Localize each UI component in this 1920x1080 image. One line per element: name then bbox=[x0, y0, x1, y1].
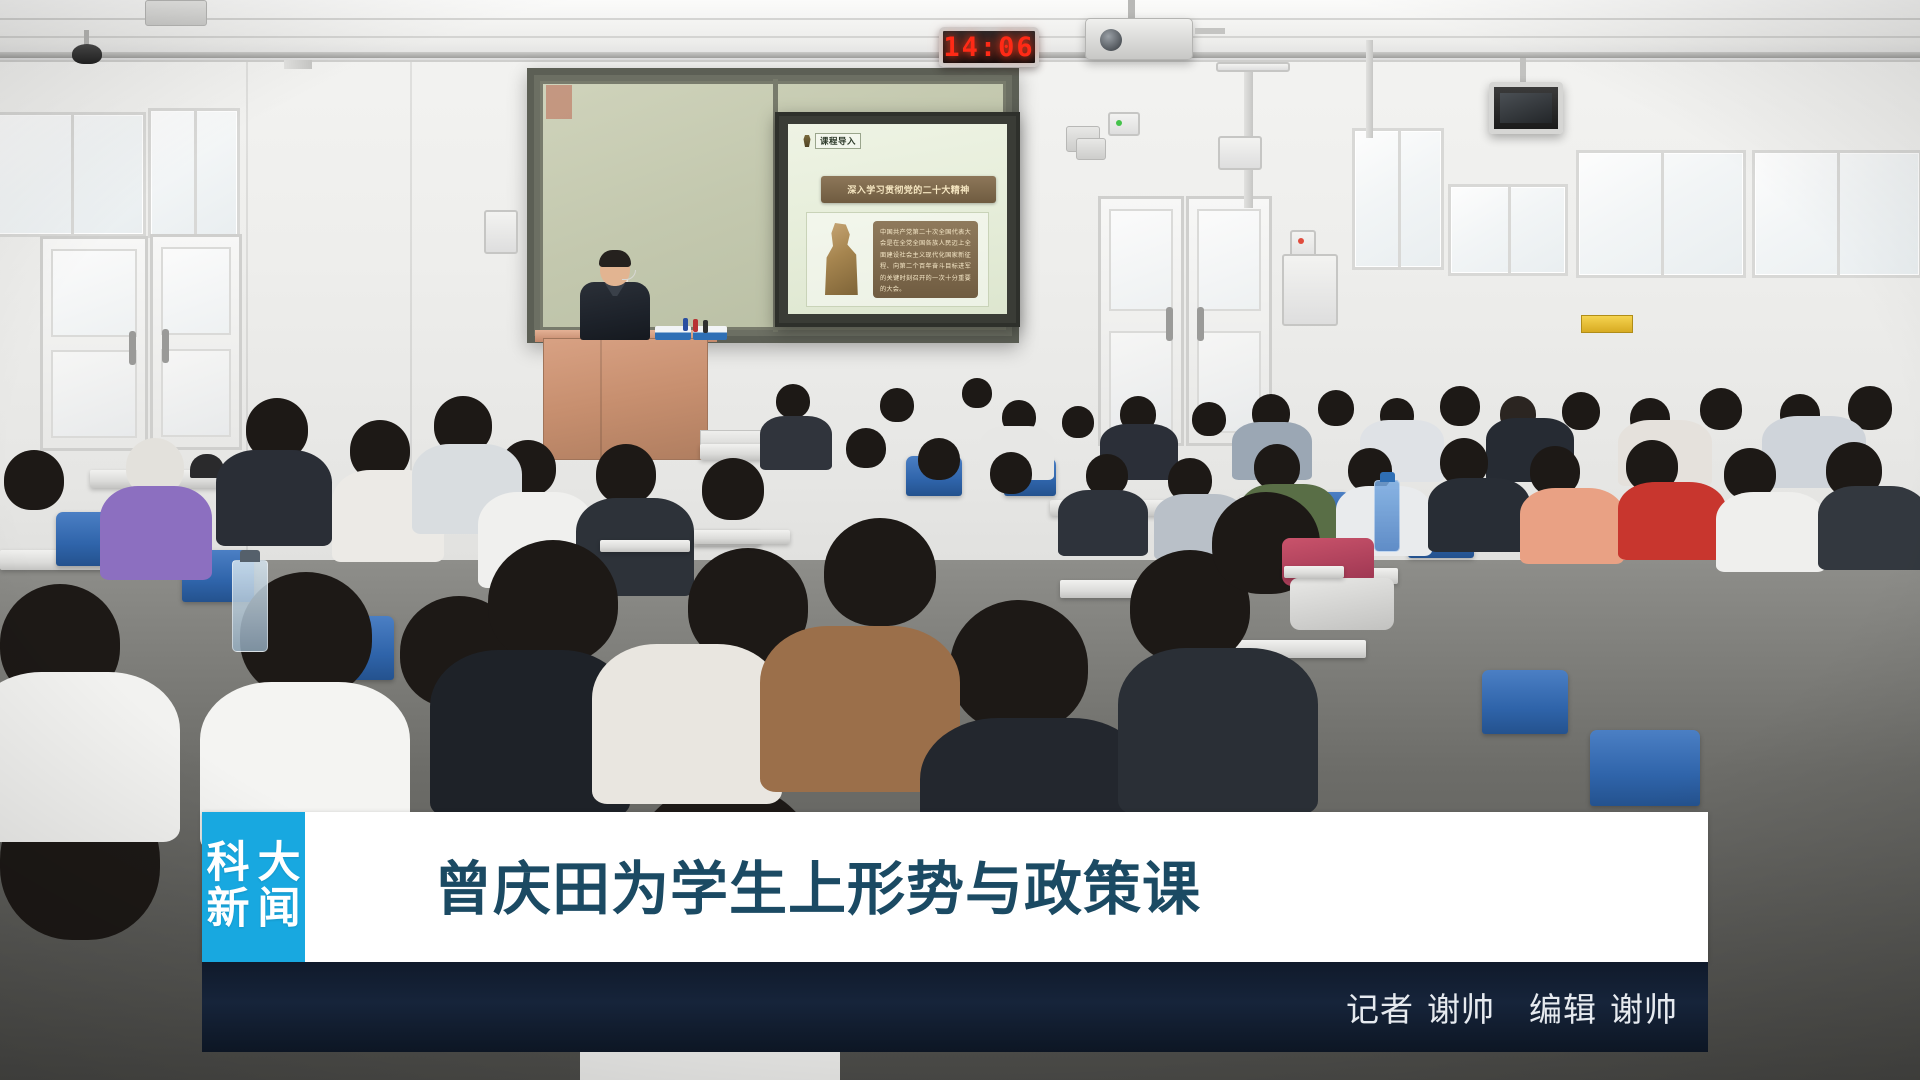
student-head bbox=[846, 428, 886, 468]
logo-char: 大 bbox=[258, 842, 301, 886]
credit-reporter: 记者 谢帅 bbox=[1346, 983, 1495, 1031]
monitor-screen bbox=[1500, 93, 1552, 123]
student-head bbox=[1062, 406, 1094, 438]
window-panel bbox=[1352, 128, 1444, 270]
slide-surface: 课程导入 深入学习贯彻党的二十大精神 中国共产党第二十次全国代表大会是在全党全国… bbox=[788, 124, 1007, 314]
student-body bbox=[1520, 488, 1624, 564]
student-body bbox=[1618, 482, 1726, 560]
student-head bbox=[4, 450, 64, 510]
notebook bbox=[600, 540, 690, 552]
slide-body-text: 中国共产党第二十次全国代表大会是在全党全国各族人民迈上全面建设社会主义现代化国家… bbox=[880, 227, 971, 296]
slide-body: 中国共产党第二十次全国代表大会是在全党全国各族人民迈上全面建设社会主义现代化国家… bbox=[806, 212, 989, 307]
student-body bbox=[1716, 492, 1826, 572]
student-head bbox=[1562, 392, 1600, 430]
wall-monitor bbox=[1489, 82, 1563, 134]
logo-line-1: 科 大 bbox=[207, 842, 301, 886]
bottle-cap bbox=[1380, 472, 1395, 482]
student-head bbox=[990, 452, 1032, 494]
security-camera-icon bbox=[72, 44, 102, 64]
podium-items bbox=[655, 318, 731, 340]
bottle-cap bbox=[240, 550, 260, 562]
student-body bbox=[1118, 648, 1318, 814]
statue-illustration bbox=[821, 223, 861, 295]
student-body bbox=[1818, 486, 1920, 570]
marker-pen bbox=[693, 319, 698, 332]
window-panel bbox=[1576, 150, 1746, 278]
window-panel bbox=[0, 112, 146, 237]
credit-role: 记者 bbox=[1346, 983, 1414, 1031]
backpack bbox=[1290, 578, 1394, 630]
ceiling-seam bbox=[0, 18, 1920, 20]
student-head bbox=[702, 458, 764, 520]
ceiling-speaker-icon bbox=[145, 0, 207, 26]
lecture-chair bbox=[1590, 730, 1700, 806]
news-headline: 曾庆田为学生上形势与政策课 bbox=[434, 842, 1201, 926]
wall-box bbox=[1218, 136, 1262, 170]
student-desk bbox=[694, 530, 790, 544]
logo-char: 新 bbox=[207, 888, 250, 932]
student-body bbox=[0, 672, 180, 842]
student-head bbox=[880, 388, 914, 422]
marker-pen bbox=[703, 320, 708, 333]
conduit-pipe bbox=[1366, 40, 1373, 138]
supply-box bbox=[693, 326, 727, 340]
lower-third-banner: 科 大 新 闻 曾庆田为学生上形势与政策课 记者 谢帅 编辑 谢帅 bbox=[202, 812, 1708, 1052]
wall-speaker-icon bbox=[1076, 138, 1106, 160]
headset-microphone-icon bbox=[622, 270, 636, 280]
credit-name: 谢帅 bbox=[1427, 983, 1495, 1031]
window-panel bbox=[1448, 184, 1568, 276]
student-body bbox=[1428, 478, 1530, 552]
student-head bbox=[1700, 388, 1742, 430]
water-bottle bbox=[1374, 480, 1400, 552]
logo-char: 科 bbox=[207, 842, 250, 886]
projector bbox=[1085, 18, 1193, 60]
student-head bbox=[1192, 402, 1226, 436]
projector-bracket bbox=[1195, 28, 1225, 34]
credits-line: 记者 谢帅 编辑 谢帅 bbox=[1346, 962, 1678, 1052]
student-head bbox=[776, 384, 810, 418]
broadcast-frame: 课程导入 深入学习贯彻党的二十大精神 中国共产党第二十次全国代表大会是在全党全国… bbox=[0, 0, 1920, 1080]
wall-clock: 14:06 bbox=[939, 27, 1039, 67]
slide-text-panel: 中国共产党第二十次全国代表大会是在全党全国各族人民迈上全面建设社会主义现代化国家… bbox=[873, 221, 978, 298]
student-head bbox=[962, 378, 992, 408]
student-head bbox=[950, 600, 1088, 732]
student-body bbox=[100, 486, 212, 580]
student-body bbox=[216, 450, 332, 546]
slide-title-banner: 深入学习贯彻党的二十大精神 bbox=[821, 176, 996, 203]
warning-label bbox=[1581, 315, 1633, 333]
student-head bbox=[596, 444, 656, 504]
slide-title-text: 深入学习贯彻党的二十大精神 bbox=[847, 183, 969, 196]
window-panel bbox=[148, 108, 240, 238]
student-head bbox=[1318, 390, 1354, 426]
conduit-pipe bbox=[284, 60, 312, 69]
slide-section-label: 课程导入 bbox=[815, 133, 861, 149]
notebook bbox=[1284, 566, 1344, 578]
credit-name: 谢帅 bbox=[1610, 983, 1678, 1031]
wall-box bbox=[484, 210, 518, 254]
lecturer-hair bbox=[599, 250, 631, 267]
window-panel bbox=[1752, 150, 1920, 278]
logo-line-2: 新 闻 bbox=[207, 888, 301, 932]
clock-time: 14:06 bbox=[943, 32, 1034, 63]
slide-section-badge: 课程导入 bbox=[802, 133, 861, 149]
electrical-cabinet[interactable] bbox=[1282, 254, 1338, 326]
water-bottle bbox=[232, 560, 268, 652]
projector-lens-icon bbox=[1100, 29, 1122, 51]
student-body bbox=[1058, 490, 1148, 556]
logo-char: 闻 bbox=[258, 888, 301, 932]
lecturer bbox=[572, 252, 656, 340]
monitor-mount bbox=[1520, 58, 1526, 84]
badge-icon bbox=[802, 135, 812, 147]
student-head bbox=[488, 540, 618, 664]
projector-mount bbox=[1128, 0, 1135, 20]
student-head bbox=[1440, 386, 1480, 426]
student-body bbox=[760, 416, 832, 470]
student-head bbox=[824, 518, 936, 626]
credit-editor: 编辑 谢帅 bbox=[1529, 983, 1678, 1031]
credit-role: 编辑 bbox=[1529, 983, 1597, 1031]
control-panel[interactable] bbox=[1108, 112, 1140, 136]
student-body bbox=[592, 644, 782, 804]
lecture-chair bbox=[1482, 670, 1568, 734]
student-head bbox=[918, 438, 960, 480]
channel-logo: 科 大 新 闻 bbox=[202, 812, 305, 962]
wall-track bbox=[1216, 62, 1290, 72]
marker-pen bbox=[683, 318, 688, 331]
projection-screen: 课程导入 深入学习贯彻党的二十大精神 中国共产党第二十次全国代表大会是在全党全国… bbox=[775, 112, 1020, 327]
